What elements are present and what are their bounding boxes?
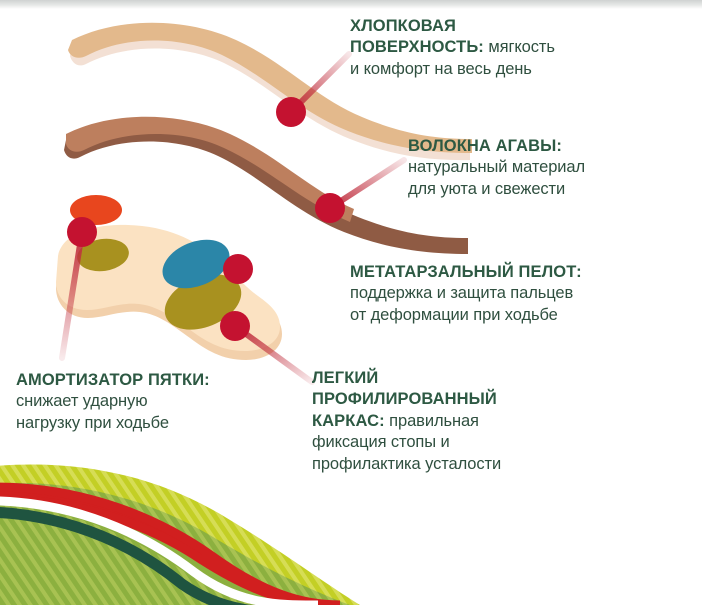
cotton-title-line2: ПОВЕРХНОСТЬ: [350, 38, 484, 56]
frame-body-line1: правильная [385, 412, 479, 430]
frame-body-line2: фиксация стопы и [312, 433, 450, 451]
infographic-canvas: ХЛОПКОВАЯ ПОВЕРХНОСТЬ: мягкость и комфор… [0, 0, 702, 605]
cotton-body-line1: мягкость [484, 38, 555, 56]
callout-metatarsal-pad: МЕТАТАРЗАЛЬНЫЙ ПЕЛОТ: поддержка и защита… [350, 262, 702, 326]
callout-light-frame: ЛЕГКИЙ ПРОФИЛИРОВАННЫЙ КАРКАС: правильна… [312, 368, 612, 475]
callout-cotton-surface: ХЛОПКОВАЯ ПОВЕРХНОСТЬ: мягкость и комфор… [350, 16, 692, 80]
marker-dot-agave [315, 193, 345, 223]
meta-body-line2: от деформации при ходьбе [350, 306, 558, 324]
frame-body-line3: профилактика усталости [312, 455, 501, 473]
marker-dot-meta [223, 254, 253, 284]
meta-title: МЕТАТАРЗАЛЬНЫЙ ПЕЛОТ: [350, 263, 582, 281]
frame-title-line2: ПРОФИЛИРОВАННЫЙ [312, 390, 497, 408]
frame-title-line1: ЛЕГКИЙ [312, 369, 378, 387]
frame-title-line3: КАРКАС: [312, 412, 385, 430]
agave-title: ВОЛОКНА АГАВЫ: [408, 137, 562, 155]
meta-body-line1: поддержка и защита пальцев [350, 284, 573, 302]
heel-body-line1: снижает ударную [16, 392, 147, 410]
callout-agave-fibers: ВОЛОКНА АГАВЫ: натуральный материал для … [408, 136, 698, 200]
marker-dot-heel [67, 217, 97, 247]
marker-dot-frame [220, 311, 250, 341]
marker-dot-cotton [276, 97, 306, 127]
agave-body-line2: для уюта и свежести [408, 180, 565, 198]
cotton-body-line2: и комфорт на весь день [350, 60, 532, 78]
cotton-title-line1: ХЛОПКОВАЯ [350, 17, 456, 35]
heel-body-line2: нагрузку при ходьбе [16, 414, 169, 432]
heel-title: АМОРТИЗАТОР ПЯТКИ: [16, 371, 210, 389]
decorative-green-ribbon [0, 464, 360, 605]
agave-body-line1: натуральный материал [408, 158, 585, 176]
callout-heel-absorber: АМОРТИЗАТОР ПЯТКИ: снижает ударную нагру… [16, 370, 306, 434]
